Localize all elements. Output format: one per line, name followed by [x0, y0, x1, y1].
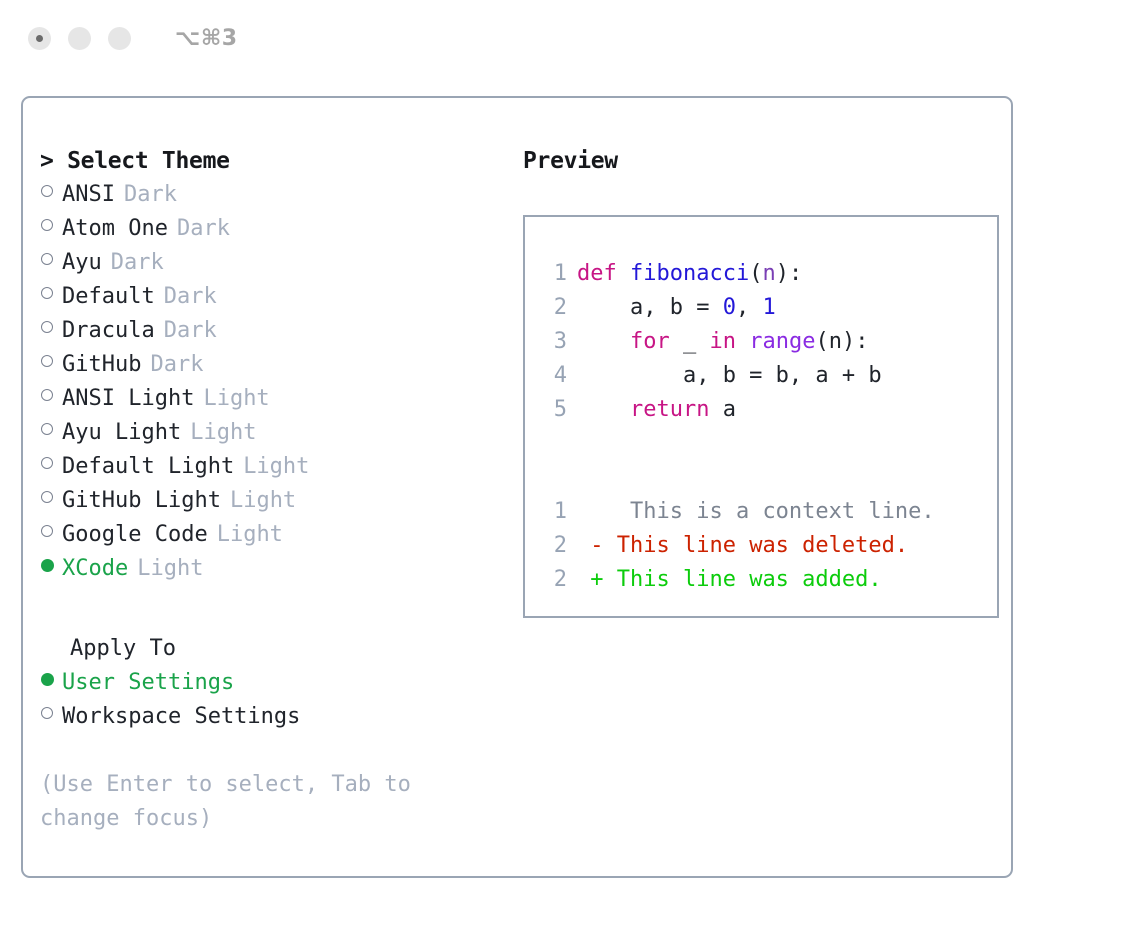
- code-token: (: [815, 329, 828, 354]
- theme-item-label: Atom One: [62, 212, 168, 246]
- code-token: [577, 397, 630, 422]
- code-line-text: return a: [577, 393, 736, 427]
- theme-item[interactable]: GitHubDark: [40, 348, 505, 382]
- theme-item-label: Default: [62, 280, 155, 314]
- code-token: [617, 261, 630, 286]
- code-line: 5 return a: [539, 393, 997, 427]
- window-titlebar: ⌥⌘3: [0, 0, 1140, 76]
- theme-item-tag: Dark: [111, 246, 164, 280]
- window-dot-active-inner: [36, 35, 43, 42]
- window-dot-second[interactable]: [68, 27, 91, 50]
- shortcut-label: ⌥⌘3: [175, 26, 238, 51]
- theme-item[interactable]: ANSIDark: [40, 178, 505, 212]
- radio-ring: [41, 525, 53, 537]
- theme-item[interactable]: DraculaDark: [40, 314, 505, 348]
- code-token: 1: [762, 295, 775, 320]
- diff-line-number: 2: [539, 563, 567, 597]
- theme-item-label: GitHub: [62, 348, 141, 382]
- theme-item-tag: Light: [243, 450, 309, 484]
- theme-item-label: Google Code: [62, 518, 208, 552]
- code-diff-spacer: [539, 427, 997, 461]
- theme-item[interactable]: XCodeLight: [40, 552, 505, 586]
- theme-item-label: Default Light: [62, 450, 234, 484]
- radio-ring: [41, 389, 53, 401]
- code-diff-spacer-2: [539, 461, 997, 495]
- code-token: n: [762, 261, 775, 286]
- theme-item-tag: Light: [230, 484, 296, 518]
- theme-item[interactable]: Atom OneDark: [40, 212, 505, 246]
- diff-line-number: 2: [539, 529, 567, 563]
- theme-item-label: XCode: [62, 552, 128, 586]
- diff-sign: -: [577, 529, 604, 563]
- code-token: a: [709, 397, 736, 422]
- radio-dot: [41, 559, 54, 572]
- theme-picker-column: > Select Theme ANSIDarkAtom OneDarkAyuDa…: [40, 144, 505, 876]
- code-sample: 1def fibonacci(n):2 a, b = 0, 13 for _ i…: [539, 257, 997, 427]
- radio-ring: [41, 491, 53, 503]
- theme-item[interactable]: AyuDark: [40, 246, 505, 280]
- code-token: range: [749, 329, 815, 354]
- window-dot-third[interactable]: [108, 27, 131, 50]
- code-token: for: [630, 329, 670, 354]
- select-theme-header: > Select Theme: [40, 144, 505, 178]
- window-dot-active[interactable]: [28, 27, 51, 50]
- theme-item[interactable]: ANSI LightLight: [40, 382, 505, 416]
- radio-ring: [41, 457, 53, 469]
- preview-title: Preview: [523, 144, 1011, 178]
- code-token: [736, 329, 749, 354]
- radio-ring: [41, 321, 53, 333]
- diff-line: 1 This is a context line.: [539, 495, 997, 529]
- code-token: ):: [776, 261, 803, 286]
- radio-dot: [41, 673, 54, 686]
- theme-item-tag: Dark: [164, 314, 217, 348]
- code-line-number: 4: [539, 359, 567, 393]
- theme-item-tag: Dark: [124, 178, 177, 212]
- diff-line-text: This is a context line.: [604, 495, 935, 529]
- code-line-text: a, b = b, a + b: [577, 359, 882, 393]
- apply-to-item-label: User Settings: [62, 666, 234, 700]
- apply-to-item[interactable]: User Settings: [40, 666, 505, 700]
- radio-ring: [41, 355, 53, 367]
- radio-ring: [41, 219, 53, 231]
- diff-line: 2 - This line was deleted.: [539, 529, 997, 563]
- code-line: 1def fibonacci(n):: [539, 257, 997, 291]
- code-line-text: a, b = 0, 1: [577, 291, 776, 325]
- theme-item[interactable]: Ayu LightLight: [40, 416, 505, 450]
- code-token: a, b = b, a + b: [577, 363, 882, 388]
- diff-line-text: This line was deleted.: [604, 529, 909, 563]
- code-token: return: [630, 397, 709, 422]
- theme-item-tag: Light: [217, 518, 283, 552]
- preview-column: Preview 1def fibonacci(n):2 a, b = 0, 13…: [505, 144, 1011, 876]
- theme-item-label: Ayu: [62, 246, 102, 280]
- code-line-number: 3: [539, 325, 567, 359]
- code-line-text: for _ in range(n):: [577, 325, 868, 359]
- code-token: 0: [723, 295, 736, 320]
- window-controls: [28, 27, 131, 50]
- theme-item[interactable]: Google CodeLight: [40, 518, 505, 552]
- theme-item-label: ANSI: [62, 178, 115, 212]
- apply-to-list[interactable]: User SettingsWorkspace Settings: [40, 666, 505, 734]
- preview-box: 1def fibonacci(n):2 a, b = 0, 13 for _ i…: [523, 215, 999, 618]
- diff-line: 2 + This line was added.: [539, 563, 997, 597]
- diff-sign: [577, 495, 604, 529]
- code-token: fibonacci: [630, 261, 749, 286]
- code-line: 2 a, b = 0, 1: [539, 291, 997, 325]
- diff-line-number: 1: [539, 495, 567, 529]
- theme-item-tag: Dark: [164, 280, 217, 314]
- apply-to-header: Apply To: [40, 632, 505, 666]
- theme-item-tag: Light: [203, 382, 269, 416]
- theme-item-label: ANSI Light: [62, 382, 194, 416]
- theme-item-tag: Dark: [177, 212, 230, 246]
- theme-selector-panel: > Select Theme ANSIDarkAtom OneDarkAyuDa…: [21, 96, 1013, 878]
- code-token: def: [577, 261, 617, 286]
- diff-sign: +: [577, 563, 604, 597]
- keyboard-hint: (Use Enter to select, Tab to change focu…: [40, 768, 440, 836]
- theme-item[interactable]: DefaultDark: [40, 280, 505, 314]
- theme-item-label: Dracula: [62, 314, 155, 348]
- theme-list[interactable]: ANSIDarkAtom OneDarkAyuDarkDefaultDarkDr…: [40, 178, 505, 586]
- apply-to-item-label: Workspace Settings: [62, 700, 300, 734]
- radio-ring: [41, 253, 53, 265]
- code-token: n: [829, 329, 842, 354]
- code-line-number: 5: [539, 393, 567, 427]
- theme-item-label: Ayu Light: [62, 416, 181, 450]
- theme-item[interactable]: Default LightLight: [40, 450, 505, 484]
- radio-ring: [41, 287, 53, 299]
- code-token: ):: [842, 329, 869, 354]
- radio-ring: [41, 185, 53, 197]
- code-token: in: [709, 329, 736, 354]
- code-line: 3 for _ in range(n):: [539, 325, 997, 359]
- code-token: ,: [736, 295, 763, 320]
- code-line-number: 2: [539, 291, 567, 325]
- theme-item-tag: Light: [137, 552, 203, 586]
- code-line-number: 1: [539, 257, 567, 291]
- diff-line-text: This line was added.: [604, 563, 882, 597]
- code-token: _: [670, 329, 710, 354]
- code-line-text: def fibonacci(n):: [577, 257, 802, 291]
- apply-to-item[interactable]: Workspace Settings: [40, 700, 505, 734]
- diff-sample: 1 This is a context line.2 - This line w…: [539, 495, 997, 597]
- code-token: [577, 329, 630, 354]
- code-token: (: [749, 261, 762, 286]
- radio-ring: [41, 707, 53, 719]
- radio-ring: [41, 423, 53, 435]
- code-token: a, b =: [577, 295, 723, 320]
- theme-item-tag: Dark: [150, 348, 203, 382]
- code-line: 4 a, b = b, a + b: [539, 359, 997, 393]
- theme-item-tag: Light: [190, 416, 256, 450]
- theme-item-label: GitHub Light: [62, 484, 221, 518]
- theme-item[interactable]: GitHub LightLight: [40, 484, 505, 518]
